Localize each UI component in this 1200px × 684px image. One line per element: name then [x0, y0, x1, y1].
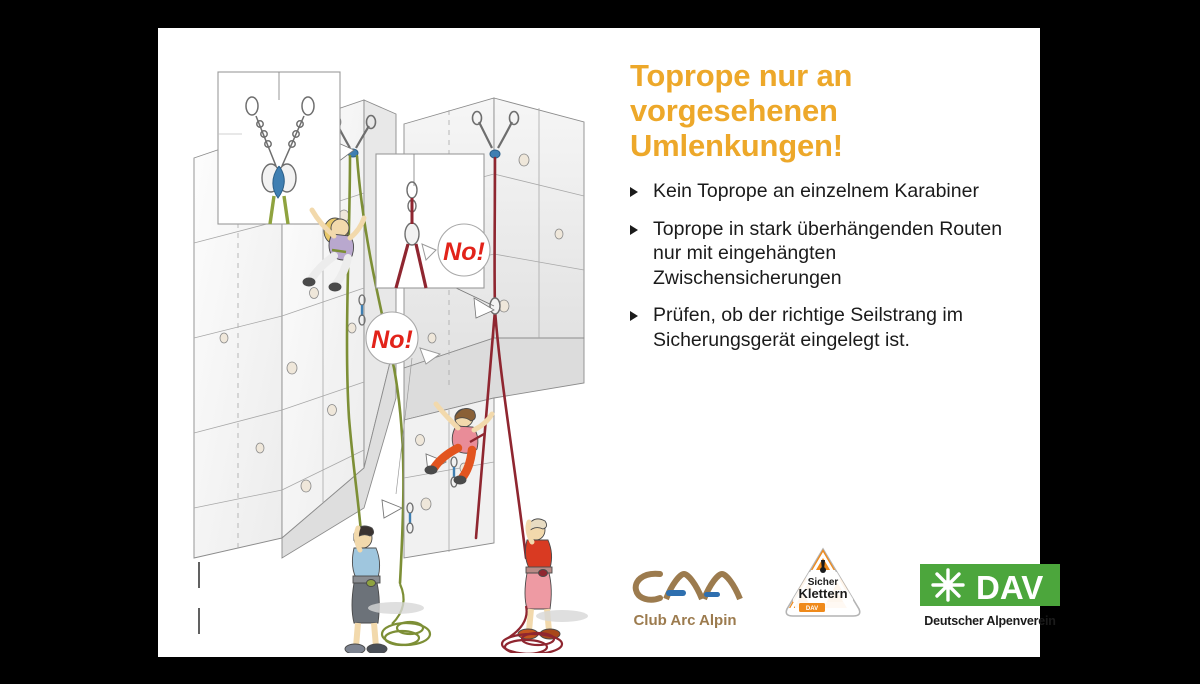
edelweiss-icon: [933, 570, 963, 600]
dav-mark-icon: DAV: [914, 564, 1066, 606]
poster-card: No! No!: [158, 28, 1040, 657]
sicher-klettern-line2: Klettern: [798, 586, 847, 601]
left-inset-callout: [218, 72, 354, 224]
bullet-list: Kein Toprope an einzelnem Karabiner Topr…: [630, 179, 1030, 352]
dav-wordmark: DAV: [976, 569, 1043, 606]
logo-club-arc-alpin: Club Arc Alpin: [620, 568, 750, 629]
logo-dav: DAV Deutscher Alpenverein: [910, 564, 1070, 628]
text-column: Toprope nur an vorgesehenen Umlenkungen!…: [630, 58, 1030, 365]
logo-row: Club Arc Alpin: [620, 546, 1040, 641]
triangle-bullet-icon: [630, 187, 638, 197]
left-shadow: [368, 602, 424, 614]
warning-bubble-2-label: No!: [371, 326, 413, 354]
single-carabiner: [490, 298, 500, 314]
sicher-klettern-badge-icon: Sicher Klettern DAV: [783, 546, 863, 620]
climbing-wall-illustration: No! No!: [164, 38, 634, 653]
right-shadow: [536, 610, 588, 622]
list-item: Prüfen, ob der richtige Seilstrang im Si…: [630, 303, 1030, 352]
caa-mark-icon: [626, 568, 744, 606]
sicher-klettern-tag: DAV: [806, 606, 818, 612]
triangle-bullet-icon: [630, 311, 638, 321]
list-item-label: Toprope in stark überhängenden Routen nu…: [653, 218, 1002, 289]
list-item-label: Prüfen, ob der richtige Seilstrang im Si…: [653, 304, 963, 351]
triangle-bullet-icon: [630, 225, 638, 235]
list-item: Toprope in stark überhängenden Routen nu…: [630, 217, 1030, 291]
page-title: Toprope nur an vorgesehenen Umlenkungen!: [630, 58, 1030, 163]
list-item: Kein Toprope an einzelnem Karabiner: [630, 179, 1030, 204]
poster-root: No! No!: [0, 0, 1200, 684]
logo-sicher-klettern: Sicher Klettern DAV: [775, 546, 871, 625]
caa-wordmark: Club Arc Alpin: [620, 612, 750, 629]
warning-bubble-1-label: No!: [443, 238, 485, 266]
dav-subtitle: Deutscher Alpenverein: [910, 614, 1070, 628]
green-rope-coil: [382, 584, 430, 645]
list-item-label: Kein Toprope an einzelnem Karabiner: [653, 180, 979, 202]
left-belayer: [345, 526, 387, 653]
